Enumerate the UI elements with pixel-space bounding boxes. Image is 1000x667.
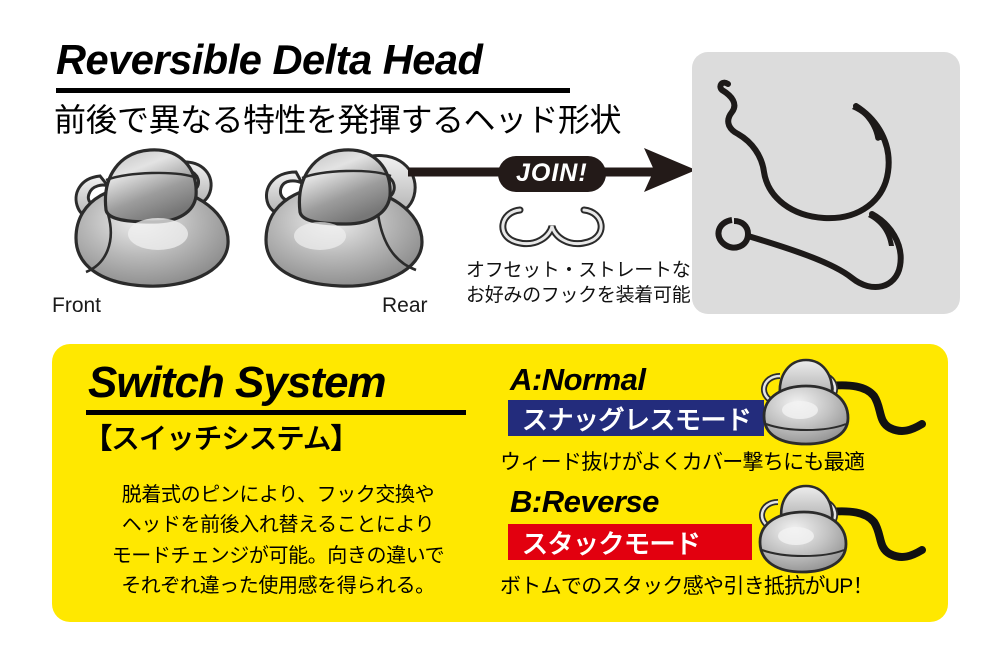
mode-b-heading: B:Reverse	[510, 484, 659, 520]
switch-system-description: 脱着式のピンにより、フック交換や ヘッドを前後入れ替えることにより モードチェン…	[78, 480, 478, 602]
front-label: Front	[52, 294, 101, 318]
page-subtitle: 前後で異なる特性を発揮するヘッド形状	[54, 95, 621, 141]
hook-caption: オフセット・ストレートなど お好みのフックを装着可能！	[466, 258, 709, 308]
description-line3: モードチェンジが可能。向きの違いで	[78, 541, 478, 571]
infographic-root: Reversible Delta Head 前後で異なる特性を発揮するヘッド形状	[0, 0, 1000, 667]
hook-caption-line2: お好みのフックを装着可能！	[466, 283, 709, 308]
mode-a-heading: A:Normal	[510, 362, 646, 398]
switch-system-title: Switch System	[88, 358, 386, 408]
rear-label: Rear	[382, 294, 428, 318]
description-line1: 脱着式のピンにより、フック交換や	[78, 480, 478, 510]
join-badge: JOIN!	[498, 156, 606, 192]
description-line4: それぞれ違った使用感を得られる。	[78, 571, 478, 601]
switch-system-underline	[86, 410, 466, 415]
mode-a-description: ウィード抜けがよくカバー撃ちにも最適	[500, 446, 864, 476]
page-title: Reversible Delta Head	[56, 36, 482, 84]
mode-a-jig-illustration	[750, 352, 940, 448]
wire-clip-icon	[492, 196, 612, 256]
switch-system-subtitle: 【スイッチシステム】	[84, 417, 358, 457]
title-underline	[56, 88, 570, 93]
hooks-illustration	[692, 52, 960, 314]
mode-b-banner: スタックモード	[508, 524, 752, 560]
front-sinker-illustration	[58, 138, 258, 298]
description-line2: ヘッドを前後入れ替えることにより	[78, 510, 478, 540]
hook-caption-line1: オフセット・ストレートなど	[466, 258, 709, 283]
mode-a-banner: スナッグレスモード	[508, 400, 764, 436]
hook-photo-box	[692, 52, 960, 314]
mode-b-jig-illustration	[748, 476, 938, 576]
